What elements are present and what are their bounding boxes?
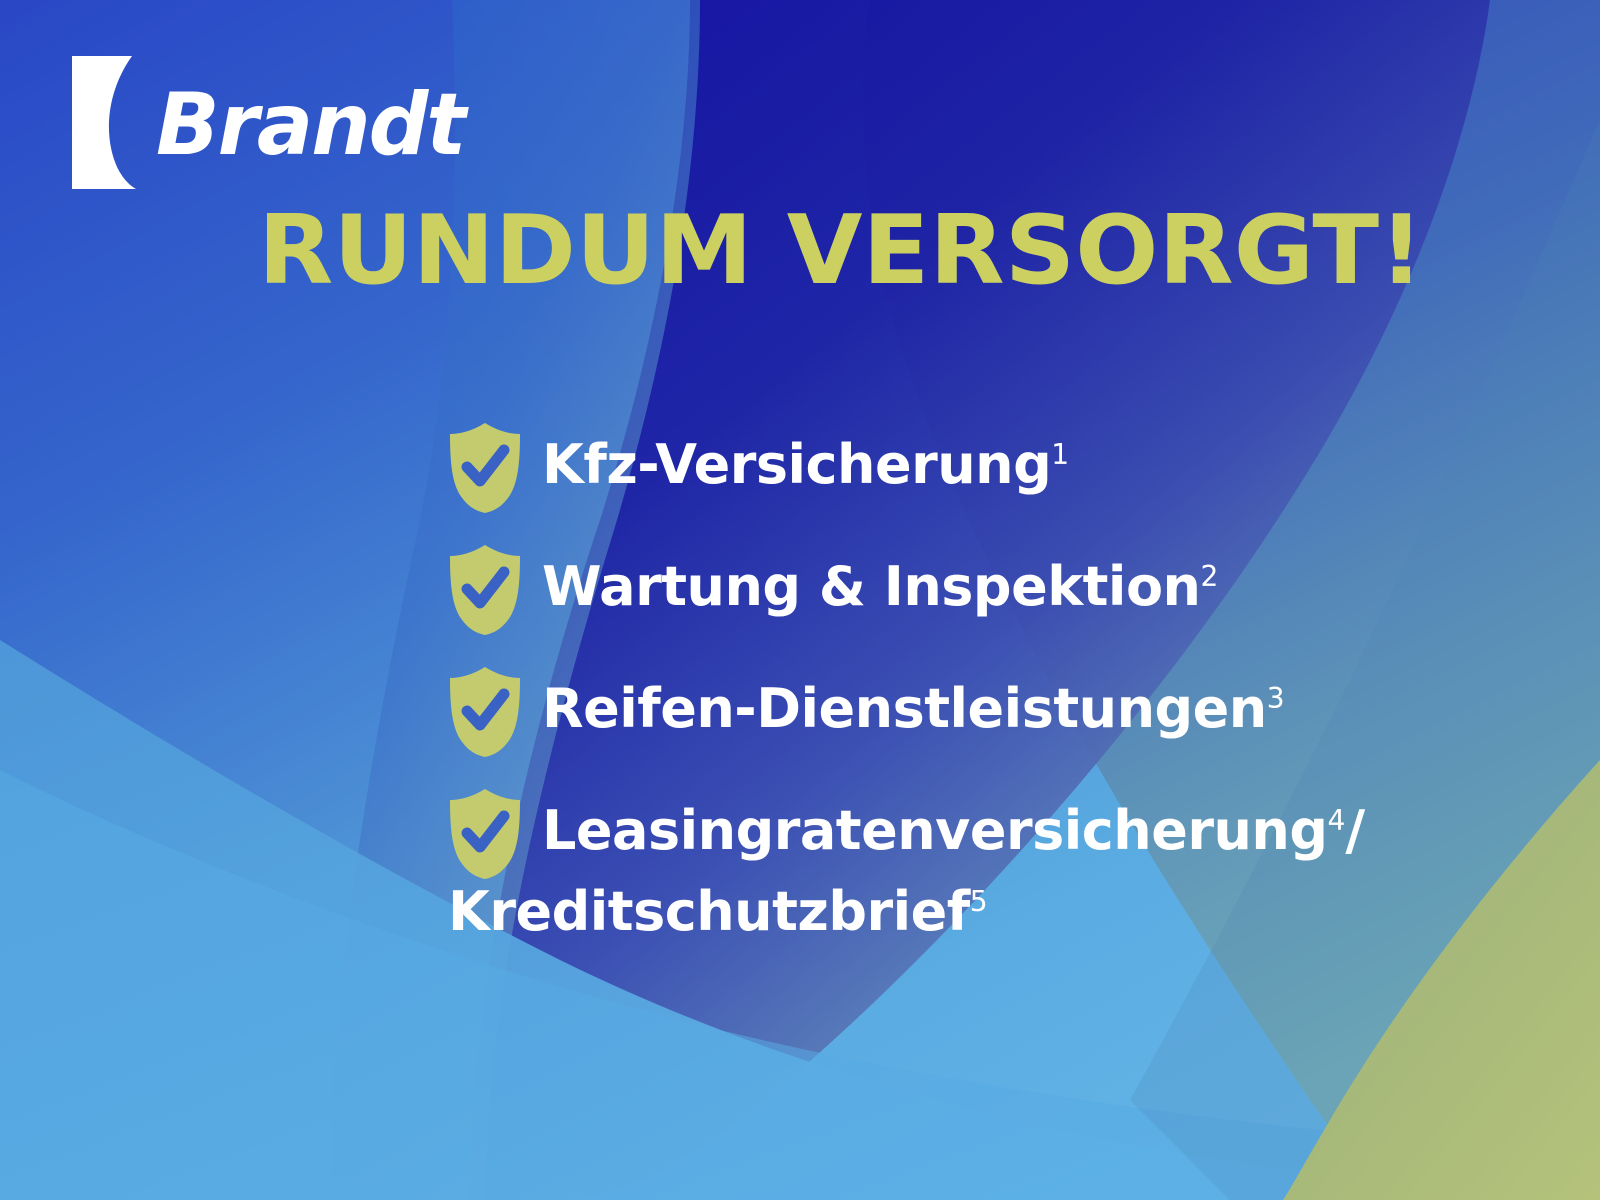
feature-label-text: Wartung & Inspektion (542, 555, 1201, 618)
feature-label-line-2: Kreditschutzbrief5 (448, 875, 1365, 950)
list-item-label: Leasingratenversicherung4/ Kreditschutzb… (448, 786, 1365, 949)
feature-label-text: Kfz-Versicherung (542, 433, 1051, 496)
feature-label-line-1: Leasingratenversicherung4/ (542, 794, 1365, 869)
footnote-marker: 2 (1201, 560, 1219, 593)
shield-check-icon (448, 544, 522, 636)
feature-label-text: Leasingratenversicherung (542, 799, 1328, 862)
marketing-slide: Brandt RUNDUM VERSORGT! Kfz-Versicherung… (0, 0, 1600, 1200)
footnote-marker: 5 (970, 885, 988, 918)
footnote-marker: 3 (1267, 682, 1285, 715)
footnote-marker: 1 (1051, 438, 1069, 471)
list-item: Wartung & Inspektion2 (448, 542, 1508, 636)
list-item-label: Wartung & Inspektion2 (542, 542, 1218, 625)
list-item: Leasingratenversicherung4/ Kreditschutzb… (448, 786, 1508, 949)
list-item-label: Kfz-Versicherung1 (542, 420, 1069, 503)
shield-check-icon (448, 422, 522, 514)
brandt-bracket-mark-icon (72, 56, 150, 189)
shield-check-icon (448, 666, 522, 758)
brandt-logo-wordmark: Brandt (156, 82, 464, 168)
list-item-label: Reifen-Dienstleistungen3 (542, 664, 1285, 747)
page-title: RUNDUM VERSORGT! (258, 204, 1424, 299)
brandt-logo[interactable]: Brandt (72, 52, 474, 192)
list-item: Reifen-Dienstleistungen3 (448, 664, 1508, 758)
feature-label-text-2: Kreditschutzbrief (448, 880, 970, 943)
label-separator: / (1345, 799, 1364, 862)
list-item: Kfz-Versicherung1 (448, 420, 1508, 514)
footnote-marker: 4 (1328, 804, 1346, 837)
feature-label-text: Reifen-Dienstleistungen (542, 677, 1267, 740)
feature-list: Kfz-Versicherung1 Wartung & Inspektion2 … (448, 420, 1508, 973)
